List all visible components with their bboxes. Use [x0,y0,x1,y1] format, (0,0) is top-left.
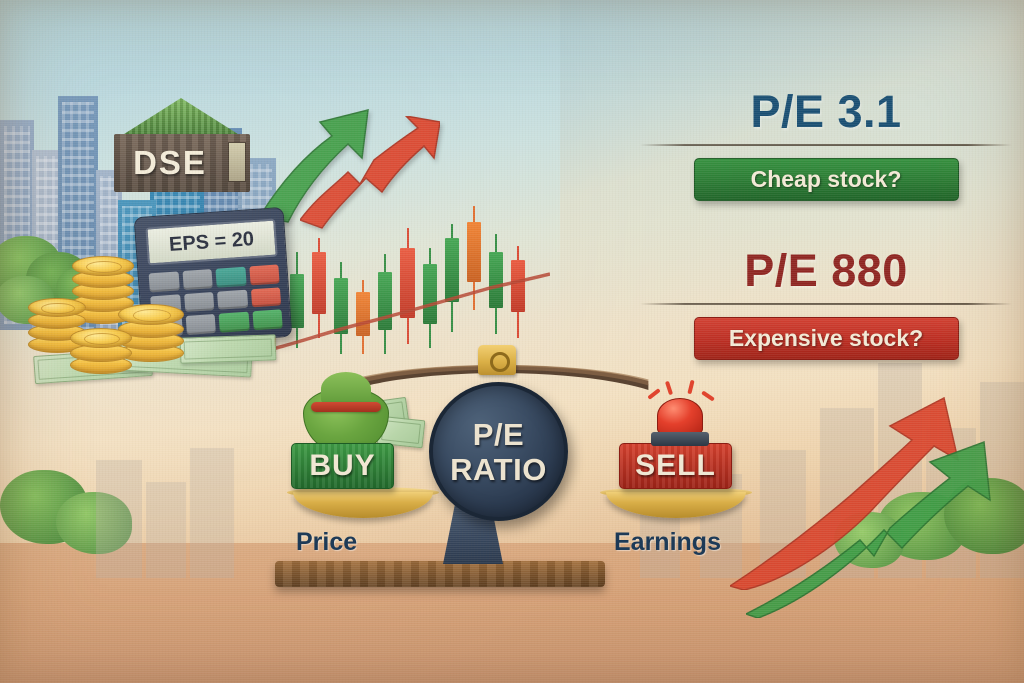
alarm-dome [657,398,703,434]
pe-cheap-heading: P/E 3.1 [640,86,1012,138]
sell-block[interactable]: SELL [619,443,732,489]
pe-ratio-dial: P/E RATIO [429,382,568,521]
money-bag-tie [311,402,381,412]
calc-key[interactable] [250,287,281,308]
green-trend-arrow [746,428,996,618]
money-bag-neck [321,372,371,406]
calc-key[interactable] [249,264,280,285]
calc-key[interactable] [185,314,216,335]
earnings-label: Earnings [614,528,721,557]
pe-ratio-dial-line2: RATIO [450,454,547,485]
divider-line [640,144,1012,146]
dse-roof [102,98,260,138]
dse-sign-text: DSE [118,142,222,184]
money-bag [303,372,389,454]
scale-base [275,561,605,587]
pe-row-expensive: P/E 880 Expensive stock? [640,245,1012,360]
alarm-siren-icon [645,386,715,448]
calc-key[interactable] [219,312,250,333]
coin-stack [70,318,132,380]
cheap-stock-pill[interactable]: Cheap stock? [694,158,959,201]
buy-block[interactable]: BUY [291,443,394,489]
price-label: Price [296,528,357,557]
dse-window [228,142,246,182]
banknote [180,334,277,363]
calc-key[interactable] [182,269,213,290]
calculator-display: EPS = 20 [145,219,277,266]
calc-key[interactable] [215,267,246,288]
expensive-stock-pill[interactable]: Expensive stock? [694,317,959,360]
calc-key[interactable] [252,310,283,331]
scale-pivot-cap [478,345,516,375]
pe-row-cheap: P/E 3.1 Cheap stock? [640,86,1012,201]
pe-comparison-panel: P/E 3.1 Cheap stock? P/E 880 Expensive s… [640,86,1012,394]
dse-building: DSE [108,98,254,194]
pe-expensive-heading: P/E 880 [640,245,1012,297]
pe-ratio-dial-line1: P/E [473,419,524,450]
divider-line [640,303,1012,305]
illustration-canvas: DSE [0,0,1024,683]
calc-key[interactable] [217,289,248,310]
calc-key[interactable] [184,292,215,313]
red-growth-arrow [300,116,440,230]
alarm-base [651,432,709,446]
calc-key[interactable] [149,271,180,292]
